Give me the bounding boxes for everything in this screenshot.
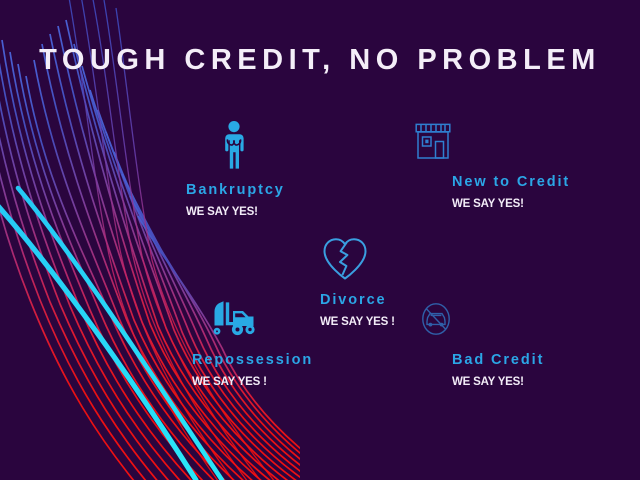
feature-bad-credit: Bad Credit WE SAY YES!	[452, 300, 544, 388]
promo-banner: TOUGH CREDIT, NO PROBLEM Bankruptcy WE S…	[0, 0, 640, 480]
storefront-icon	[413, 120, 570, 162]
page-title: TOUGH CREDIT, NO PROBLEM	[0, 44, 640, 77]
feature-subtext: WE SAY YES!	[186, 206, 285, 218]
feature-subtext: WE SAY YES !	[320, 316, 395, 328]
feature-label: Bad Credit	[452, 352, 544, 368]
feature-label: Bankruptcy	[186, 182, 285, 198]
feature-label: Repossession	[192, 352, 313, 368]
feature-repossession: Repossession WE SAY YES !	[192, 298, 313, 388]
tow-truck-icon	[211, 298, 313, 340]
no-car-icon	[418, 300, 544, 338]
broken-heart-icon	[321, 236, 395, 282]
feature-bankruptcy: Bankruptcy WE SAY YES!	[186, 120, 285, 218]
feature-subtext: WE SAY YES!	[452, 198, 570, 210]
person-empty-pockets-icon	[216, 120, 285, 170]
feature-label: Divorce	[320, 292, 395, 308]
feature-subtext: WE SAY YES!	[452, 376, 544, 388]
feature-label: New to Credit	[452, 174, 570, 190]
feature-divorce: Divorce WE SAY YES !	[318, 236, 395, 328]
feature-new-to-credit: New to Credit WE SAY YES!	[452, 120, 570, 210]
feature-subtext: WE SAY YES !	[192, 376, 313, 388]
